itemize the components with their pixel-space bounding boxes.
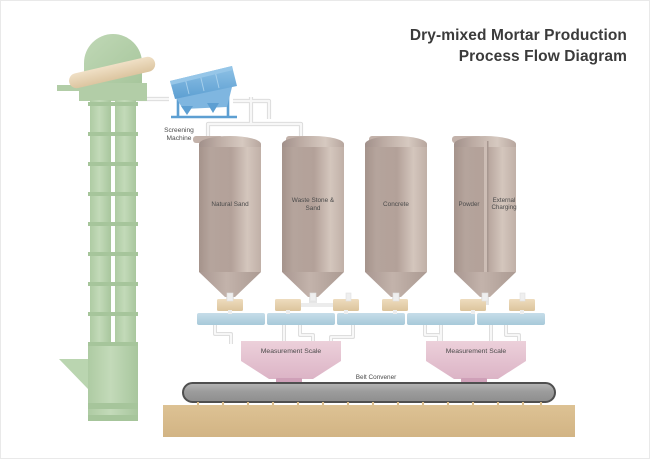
diagram-canvas: Dry-mixed Mortar Production Process Flow… bbox=[0, 0, 650, 459]
bucket-elevator bbox=[57, 34, 157, 421]
silo-waste-stone-sand bbox=[282, 136, 344, 305]
silo-concrete bbox=[365, 136, 427, 305]
ground-platform bbox=[163, 405, 575, 437]
silo-natural-sand bbox=[193, 136, 261, 305]
elevator-columns bbox=[88, 100, 138, 346]
process-flow-artwork bbox=[1, 1, 650, 459]
screening-machine bbox=[170, 66, 237, 117]
feeders bbox=[197, 310, 545, 325]
silo-powder-external-charging bbox=[452, 136, 516, 305]
